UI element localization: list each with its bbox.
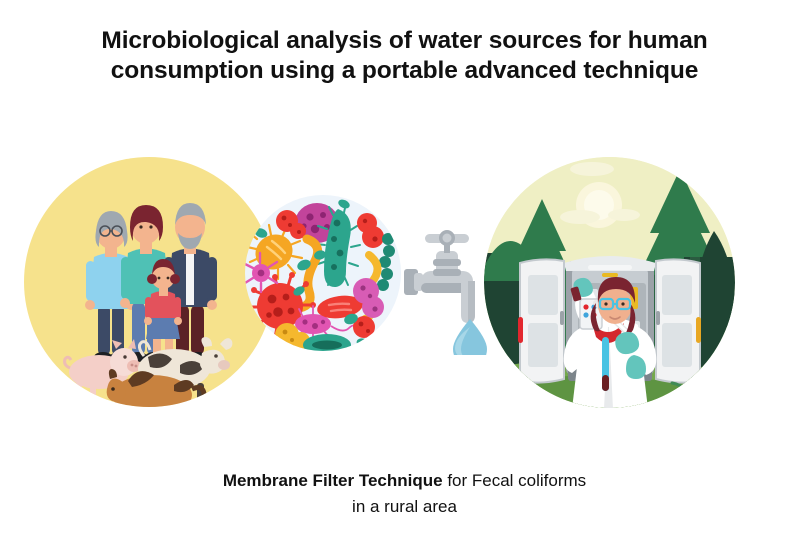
field-illustration bbox=[484, 157, 735, 408]
microbes-circle bbox=[245, 195, 401, 351]
caption-technique-name: Membrane Filter Technique bbox=[223, 471, 443, 490]
title-line-2: consumption using a portable advanced te… bbox=[0, 56, 809, 86]
page-title: Microbiological analysis of water source… bbox=[0, 26, 809, 86]
caption-line-1: Membrane Filter Technique for Fecal coli… bbox=[0, 468, 809, 494]
community-circle bbox=[24, 157, 274, 407]
title-line-1: Microbiological analysis of water source… bbox=[0, 26, 809, 56]
community-illustration bbox=[24, 157, 274, 407]
field-circle bbox=[484, 157, 735, 408]
caption-line-1-rest: for Fecal coliforms bbox=[443, 471, 587, 490]
van-door-right bbox=[656, 259, 701, 382]
van-door-left bbox=[518, 259, 564, 382]
graphical-abstract: Microbiological analysis of water source… bbox=[0, 0, 809, 547]
figure-stage bbox=[0, 140, 809, 430]
caption-line-2: in a rural area bbox=[0, 494, 809, 520]
figure-caption: Membrane Filter Technique for Fecal coli… bbox=[0, 468, 809, 520]
microbes-illustration bbox=[245, 195, 401, 351]
microbe-diplococcus-red-right bbox=[357, 213, 384, 248]
microbe-capsule-teal-bottom bbox=[303, 334, 351, 351]
